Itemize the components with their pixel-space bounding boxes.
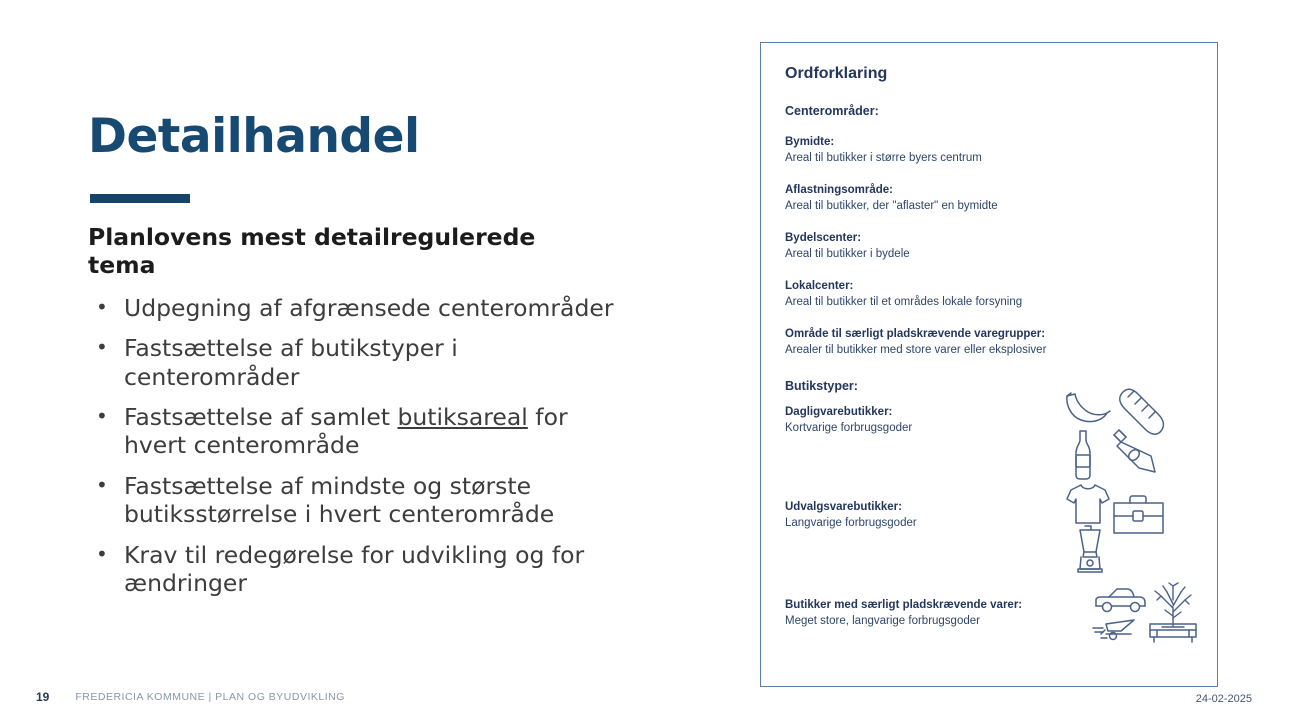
bullet-dot-icon: • [96,472,108,499]
list-item-text-pre: Fastsættelse af butikstyper i centerområ… [124,334,458,390]
glossary-term: Lokalcenter: [785,279,1193,295]
banana-icon [1062,391,1112,429]
glossary-definition: Arealer til butikker med store varer ell… [785,343,1193,359]
list-item-text-underlined: butiksareal [397,403,527,431]
glossary-panel-title: Ordforklaring [785,65,1193,83]
glossary-definition: Areal til butikker, der "aflaster" en by… [785,199,1193,215]
bullet-dot-icon: • [96,334,108,361]
shop-type-row-pladskraevende: Butikker med særligt pladskrævende varer… [785,596,1193,646]
slide-footer: 19 FREDERICIA KOMMUNE | PLAN OG BYUDVIKL… [36,690,345,704]
list-item-text-pre: Fastsættelse af samlet [124,403,397,431]
glossary-term: Udvalgsvarebutikker: [785,500,917,516]
slide-canvas: Detailhandel Planlovens mest detailregul… [0,0,1290,725]
shop-type-row-dagligvare: Dagligvarebutikker: Kortvarige forbrugsg… [785,403,1193,472]
shop-type-text: Butikker med særligt pladskrævende varer… [785,596,1022,629]
glossary-definition: Areal til butikker i større byers centru… [785,151,1193,167]
glossary-definition: Kortvarige forbrugsgoder [785,421,912,437]
list-item-text-pre: Fastsættelse af mindste og største butik… [124,472,554,528]
section-heading-center-areas: Centerområder: [785,104,1193,118]
page-title: Detailhandel [88,112,708,161]
blender-icon [1071,524,1111,574]
slide-subtitle: Planlovens mest detailregulerede tema [88,224,558,279]
page-number: 19 [36,690,49,704]
bullet-list: • Udpegning af afgrænsede centerområder … [88,294,628,598]
shop-type-row-udvalgsvare: Udvalgsvarebutikker: Langvarige forbrugs… [785,498,1193,562]
list-item: • Udpegning af afgrænsede centerområder [88,294,628,322]
bottle-icon [1070,429,1096,481]
title-accent-bar [90,194,190,203]
car-icon [1093,586,1147,616]
toothpaste-tube-icon [1106,425,1162,477]
sofa-icon [1147,618,1199,646]
glossary-entry: Område til særligt pladskrævende varegru… [785,327,1193,358]
bullet-dot-icon: • [96,403,108,430]
glossary-definition: Meget store, langvarige forbrugsgoder [785,614,1022,630]
footer-date: 24-02-2025 [1196,693,1252,705]
shop-type-text: Dagligvarebutikker: Kortvarige forbrugsg… [785,403,912,436]
footer-organization: FREDERICIA KOMMUNE | PLAN OG BYUDVIKLING [75,691,345,703]
briefcase-icon [1111,494,1167,536]
glossary-entry: Bydelscenter: Areal til butikker i bydel… [785,231,1193,262]
shop-type-icons-dagligvare [1062,387,1167,472]
shop-type-text: Udvalgsvarebutikker: Langvarige forbrugs… [785,498,917,531]
glossary-entry: Aflastningsområde: Areal til butikker, d… [785,183,1193,214]
bullet-dot-icon: • [96,294,108,321]
glossary-definition: Areal til butikker til et områdes lokale… [785,295,1193,311]
glossary-term: Område til særligt pladskrævende varegru… [785,327,1193,343]
glossary-term: Butikker med særligt pladskrævende varer… [785,598,1022,614]
list-item-text-pre: Udpegning af afgrænsede centerområder [124,294,613,322]
glossary-entry: Bymidte: Areal til butikker i større bye… [785,135,1193,166]
glossary-term: Dagligvarebutikker: [785,405,912,421]
glossary-term: Bymidte: [785,135,1193,151]
list-item: • Fastsættelse af samlet butiksareal for… [88,403,628,460]
boat-trailer-icon [1091,618,1145,644]
shop-type-icons-udvalgsvare [1061,482,1171,562]
glossary-term: Bydelscenter: [785,231,1193,247]
glossary-definition: Langvarige forbrugsgoder [785,516,917,532]
glossary-entry: Lokalcenter: Areal til butikker til et o… [785,279,1193,310]
tshirt-icon [1065,482,1111,526]
glossary-term: Aflastningsområde: [785,183,1193,199]
list-item: • Fastsættelse af butikstyper i centerom… [88,334,628,391]
glossary-definition: Areal til butikker i bydele [785,247,1193,263]
glossary-panel: Ordforklaring Centerområder: Bymidte: Ar… [760,42,1218,687]
list-item: • Fastsættelse af mindste og største but… [88,472,628,529]
bullet-dot-icon: • [96,541,108,568]
list-item: • Krav til redegørelse for udvikling og … [88,541,628,598]
shop-type-icons-pladskraevende [1091,582,1199,646]
list-item-text-pre: Krav til redegørelse for udvikling og fo… [124,541,584,597]
left-content-column: Detailhandel Planlovens mest detailregul… [88,112,708,610]
